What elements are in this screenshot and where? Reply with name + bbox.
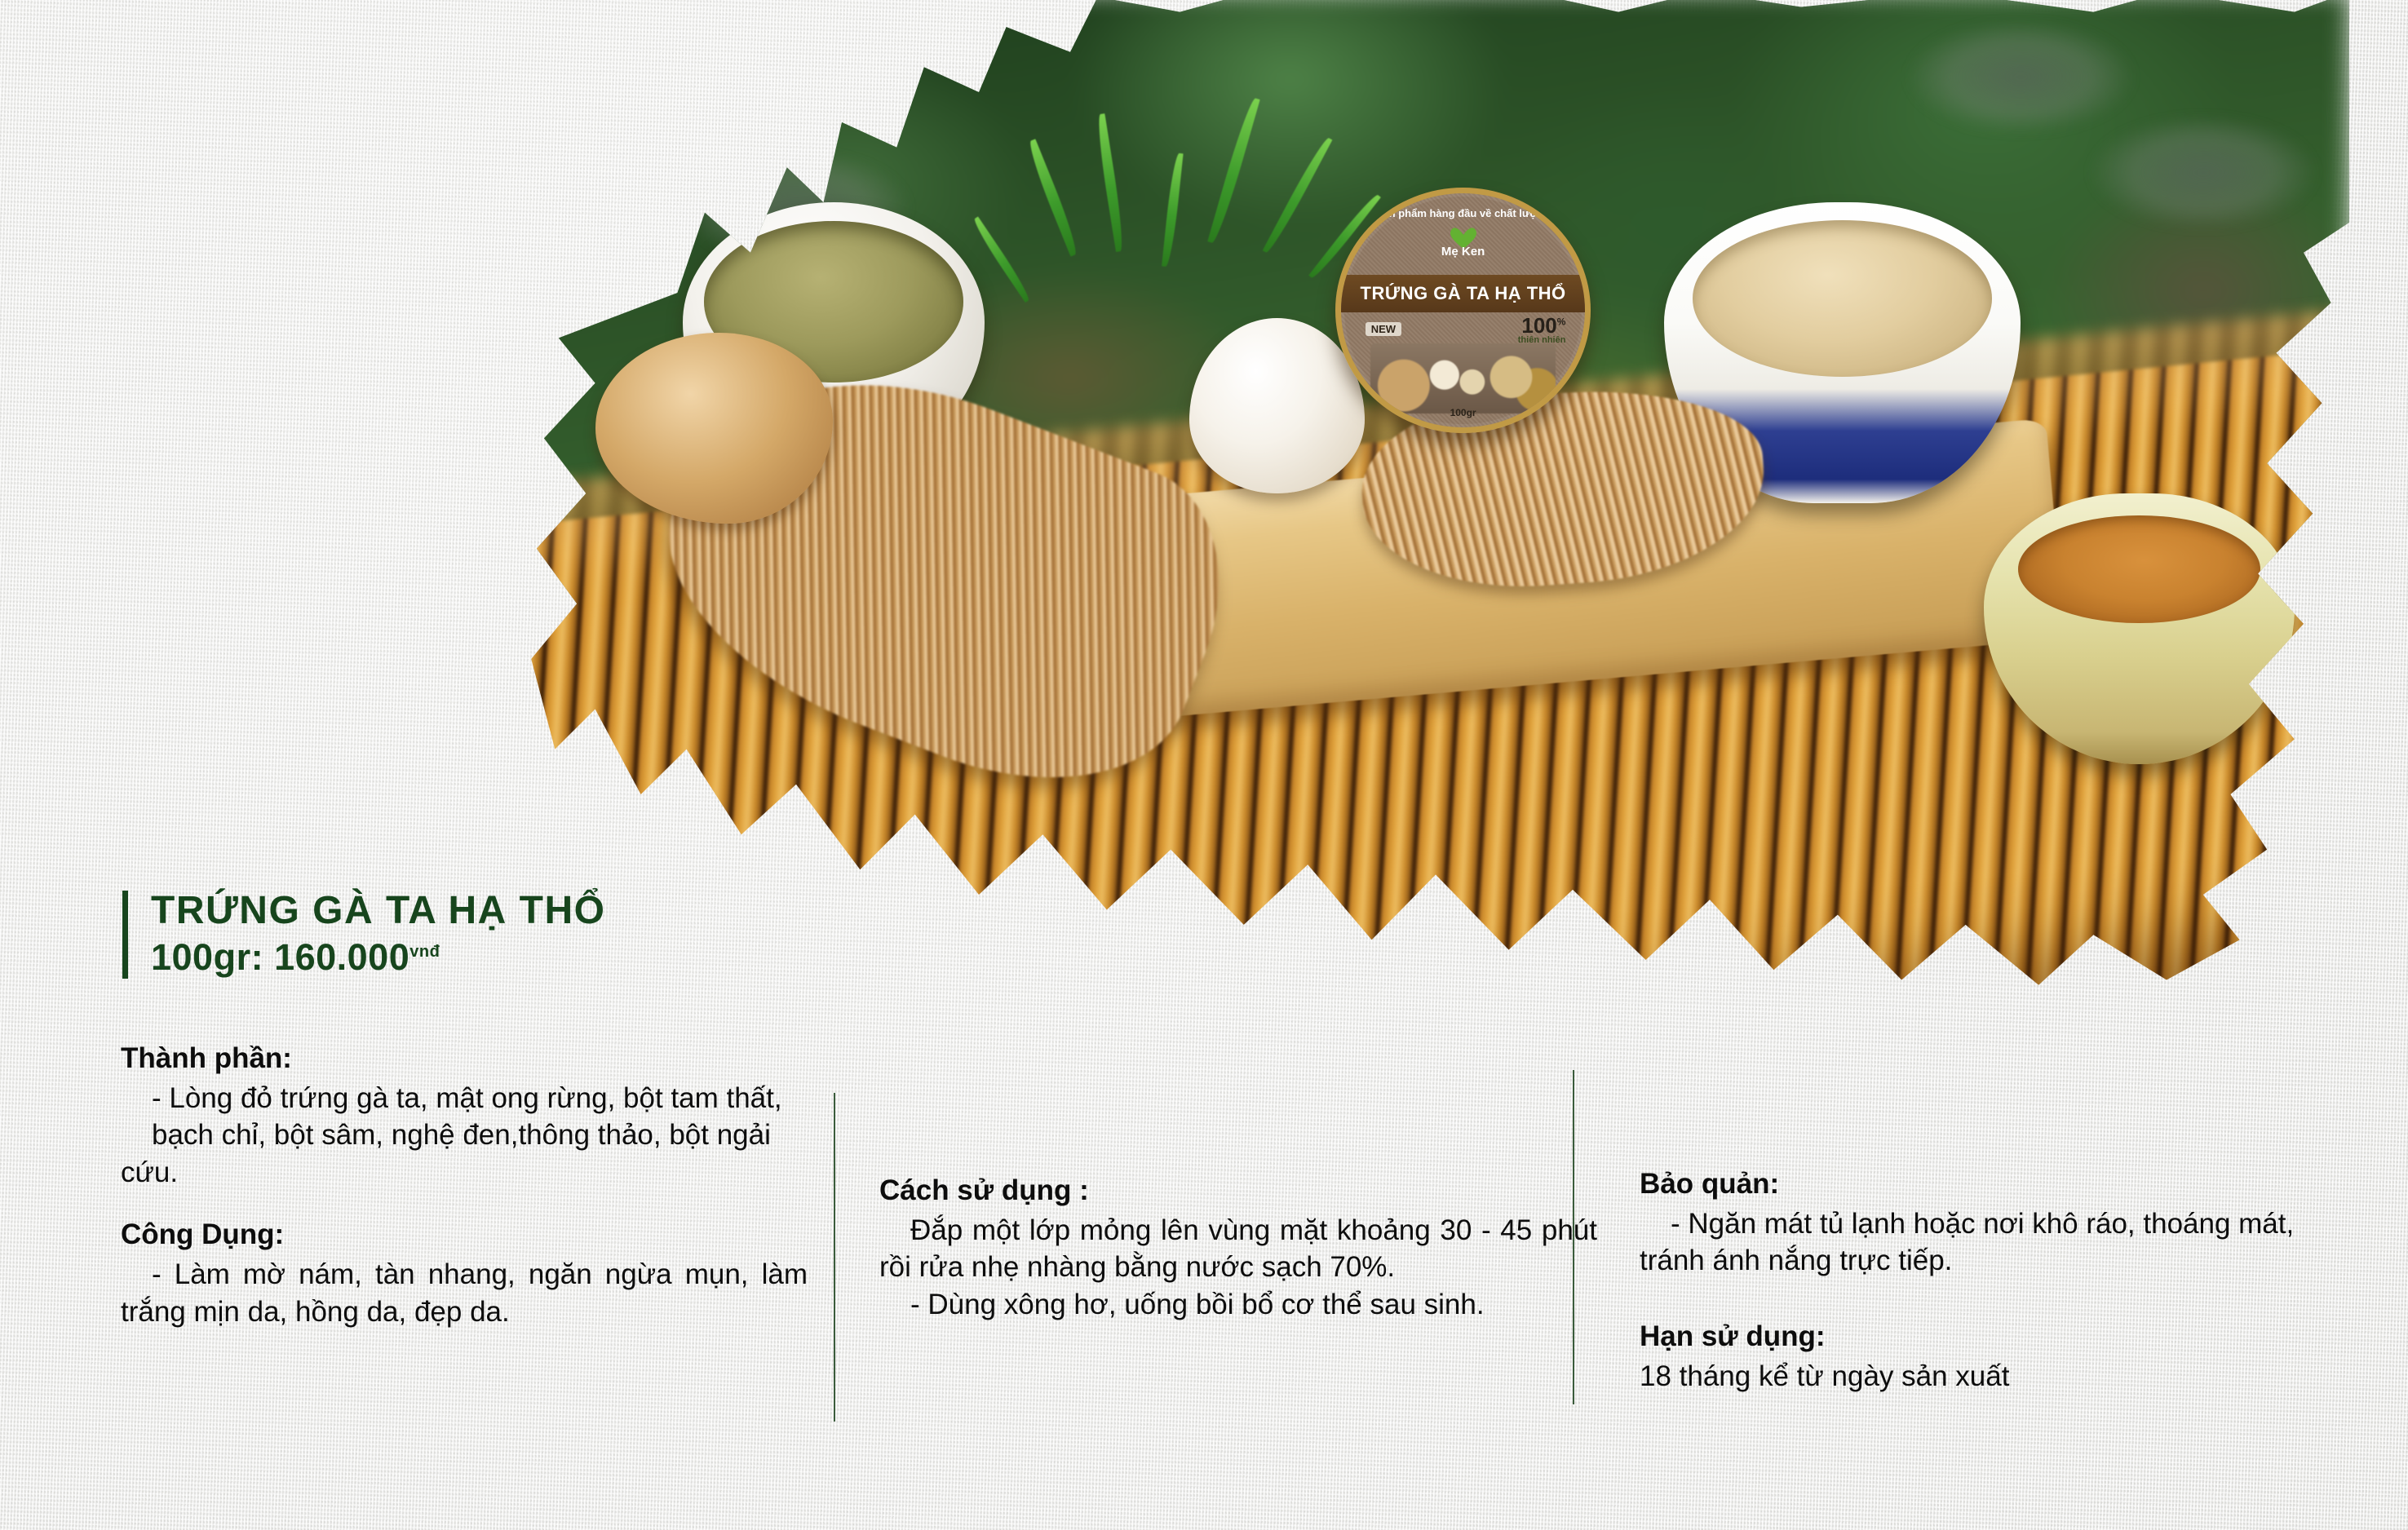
column-divider-left [834, 1093, 835, 1422]
heading-han-su-dung: Hạn sử dụng: [1640, 1319, 2341, 1355]
product-title: TRỨNG GÀ TA HẠ THỔ [151, 891, 605, 932]
price-currency: vnđ [409, 943, 440, 961]
heading-cach-su-dung: Cách sử dụng : [879, 1173, 1597, 1209]
column-storage-expiry: Bảo quản: - Ngăn mát tủ lạnh hoặc nơi kh… [1640, 1166, 2341, 1395]
product-title-block: TRỨNG GÀ TA HẠ THỔ 100gr: 160.000vnđ [122, 891, 605, 979]
column-ingredients-benefits: Thành phần: - Lòng đỏ trứng gà ta, mật o… [121, 1041, 808, 1330]
text-han-su-dung: 18 tháng kể từ ngày sản xuất [1640, 1358, 2341, 1395]
text-bao-quan: - Ngăn mát tủ lạnh hoặc nơi khô ráo, tho… [1640, 1205, 2341, 1280]
product-price: 100gr: 160.000vnđ [151, 935, 605, 979]
text-cong-dung: - Làm mờ nám, tàn nhang, ngăn ngừa mụn, … [121, 1256, 808, 1330]
heading-thanh-phan: Thành phần: [121, 1041, 808, 1077]
heading-cong-dung: Công Dụng: [121, 1217, 808, 1253]
text-cach-su-dung-1: Đắp một lớp mỏng lên vùng mặt khoảng 30 … [879, 1212, 1597, 1286]
column-divider-right [1573, 1070, 1574, 1404]
text-cach-su-dung-2: - Dùng xông hơ, uống bồi bổ cơ thể sau s… [879, 1286, 1597, 1324]
heading-bao-quan: Bảo quản: [1640, 1166, 2341, 1202]
text-thanh-phan-line1: - Lòng đỏ trứng gà ta, mật ong rừng, bột… [121, 1080, 808, 1117]
price-value: 100gr: 160.000 [151, 936, 409, 978]
column-usage: Cách sử dụng : Đắp một lớp mỏng lên vùng… [879, 1173, 1597, 1323]
text-thanh-phan-line2: bạch chỉ, bột sâm, nghệ đen,thông thảo, … [121, 1117, 808, 1191]
